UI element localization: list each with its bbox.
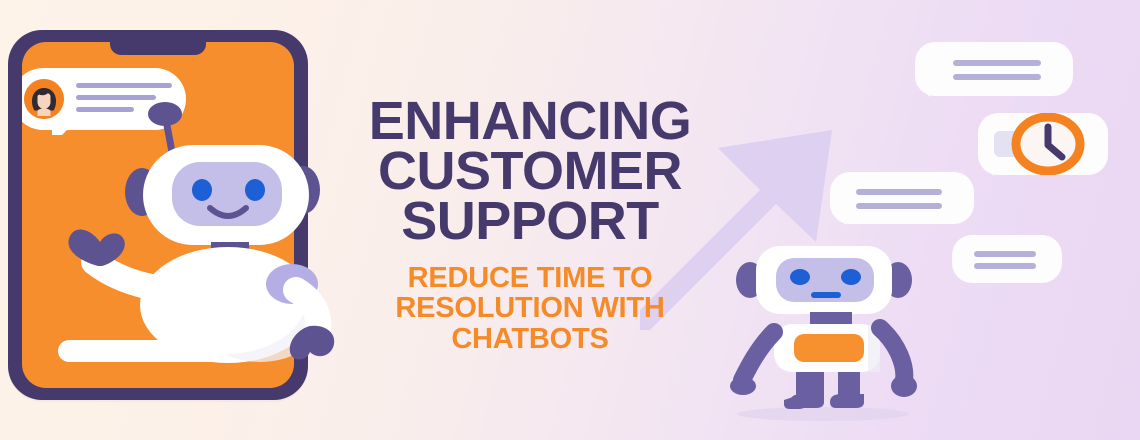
message-line [76, 83, 172, 88]
speech-bubble-top-right-tail [916, 84, 930, 97]
headline-line-3: SUPPORT [330, 196, 730, 246]
promo-banner: ENHANCING CUSTOMER SUPPORT REDUCE TIME T… [0, 0, 1140, 440]
text-block: ENHANCING CUSTOMER SUPPORT REDUCE TIME T… [330, 96, 730, 355]
page-subtitle: REDUCE TIME TO RESOLUTION WITH CHATBOTS [330, 263, 730, 355]
chatbot-robot-standing [718, 228, 928, 440]
speech-bubble-top-right [915, 42, 1073, 96]
speech-bubble-clock [978, 113, 1108, 175]
subhead-line-1: REDUCE TIME TO [330, 263, 730, 294]
bubble-line [953, 60, 1041, 66]
headline-line-1: ENHANCING [330, 96, 730, 146]
clock-icon [978, 113, 1108, 175]
bubble-line [974, 263, 1036, 269]
speech-bubble-lower-right [952, 235, 1062, 283]
speech-bubble-middle-right-tail [832, 213, 846, 225]
bubble-line [974, 251, 1036, 257]
phone-notch [110, 42, 206, 55]
bubble-line [953, 74, 1041, 80]
chatbot-robot-waving [20, 90, 340, 370]
subhead-line-2: RESOLUTION WITH [330, 293, 730, 324]
bubble-line [856, 189, 942, 195]
speech-bubble-clock-tail [980, 163, 994, 176]
headline-line-2: CUSTOMER [330, 146, 730, 196]
page-title: ENHANCING CUSTOMER SUPPORT [330, 96, 730, 247]
bubble-line [856, 203, 942, 209]
speech-bubble-middle-right [830, 172, 974, 224]
subhead-line-3: CHATBOTS [330, 324, 730, 355]
